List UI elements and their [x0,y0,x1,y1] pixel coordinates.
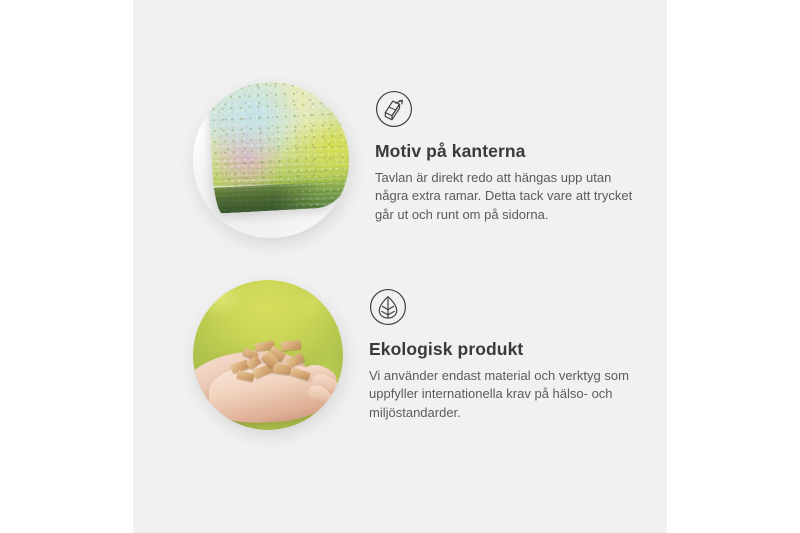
feature-block-canvas-edges: Motiv på kanterna Tavlan är direkt redo … [193,82,647,238]
feature-title: Ekologisk produkt [369,339,641,360]
canvas-edge-print-icon [375,90,413,128]
canvas-corner-circle [193,82,349,238]
painted-canvas-block [208,82,349,214]
wood-chip-pile [229,340,313,384]
feature-block-eco-product: Ekologisk produkt Vi använder endast mat… [193,280,641,430]
content-panel: Motiv på kanterna Tavlan är direkt redo … [133,0,667,533]
feature-body: Vi använder endast material och verktyg … [369,367,641,422]
page-root: Motiv på kanterna Tavlan är direkt redo … [0,0,800,533]
feature-title: Motiv på kanterna [375,141,647,162]
canvas-corner-photo [193,82,349,238]
feature-text-eco-product: Ekologisk produkt Vi använder endast mat… [369,280,641,422]
wood-chips-in-hands-photo [193,280,343,430]
leaf-icon [369,288,407,326]
feature-body: Tavlan är direkt redo att hängas upp uta… [375,169,647,224]
feature-text-canvas-edges: Motiv på kanterna Tavlan är direkt redo … [375,82,647,224]
wood-chips-circle [193,280,343,430]
